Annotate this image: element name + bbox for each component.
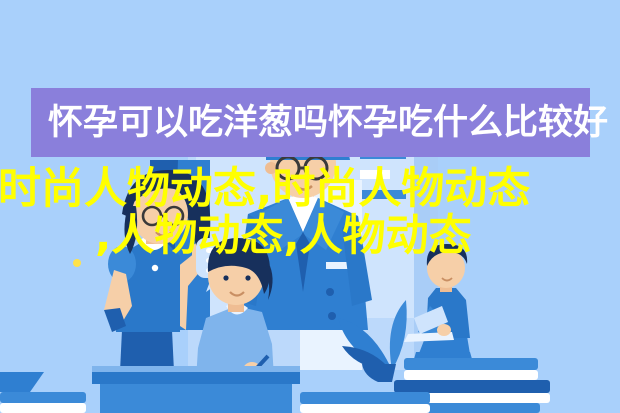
spark-dot-icon <box>73 259 81 267</box>
book-stack-lower-left <box>300 392 430 413</box>
overlay-text-line-1: 时尚人物动态,时尚人物动态 <box>0 168 530 211</box>
overlay-text-line-2: ,人物动态,人物动态 <box>95 215 472 258</box>
screenshot-canvas: 怀孕可以吃洋葱吗怀孕吃什么比较好 时尚人物动态,时尚人物动态 ,人物动态,人物动… <box>0 0 620 413</box>
headline-text: 怀孕可以吃洋葱吗怀孕吃什么比较好 <box>48 96 593 151</box>
desk <box>92 366 300 413</box>
